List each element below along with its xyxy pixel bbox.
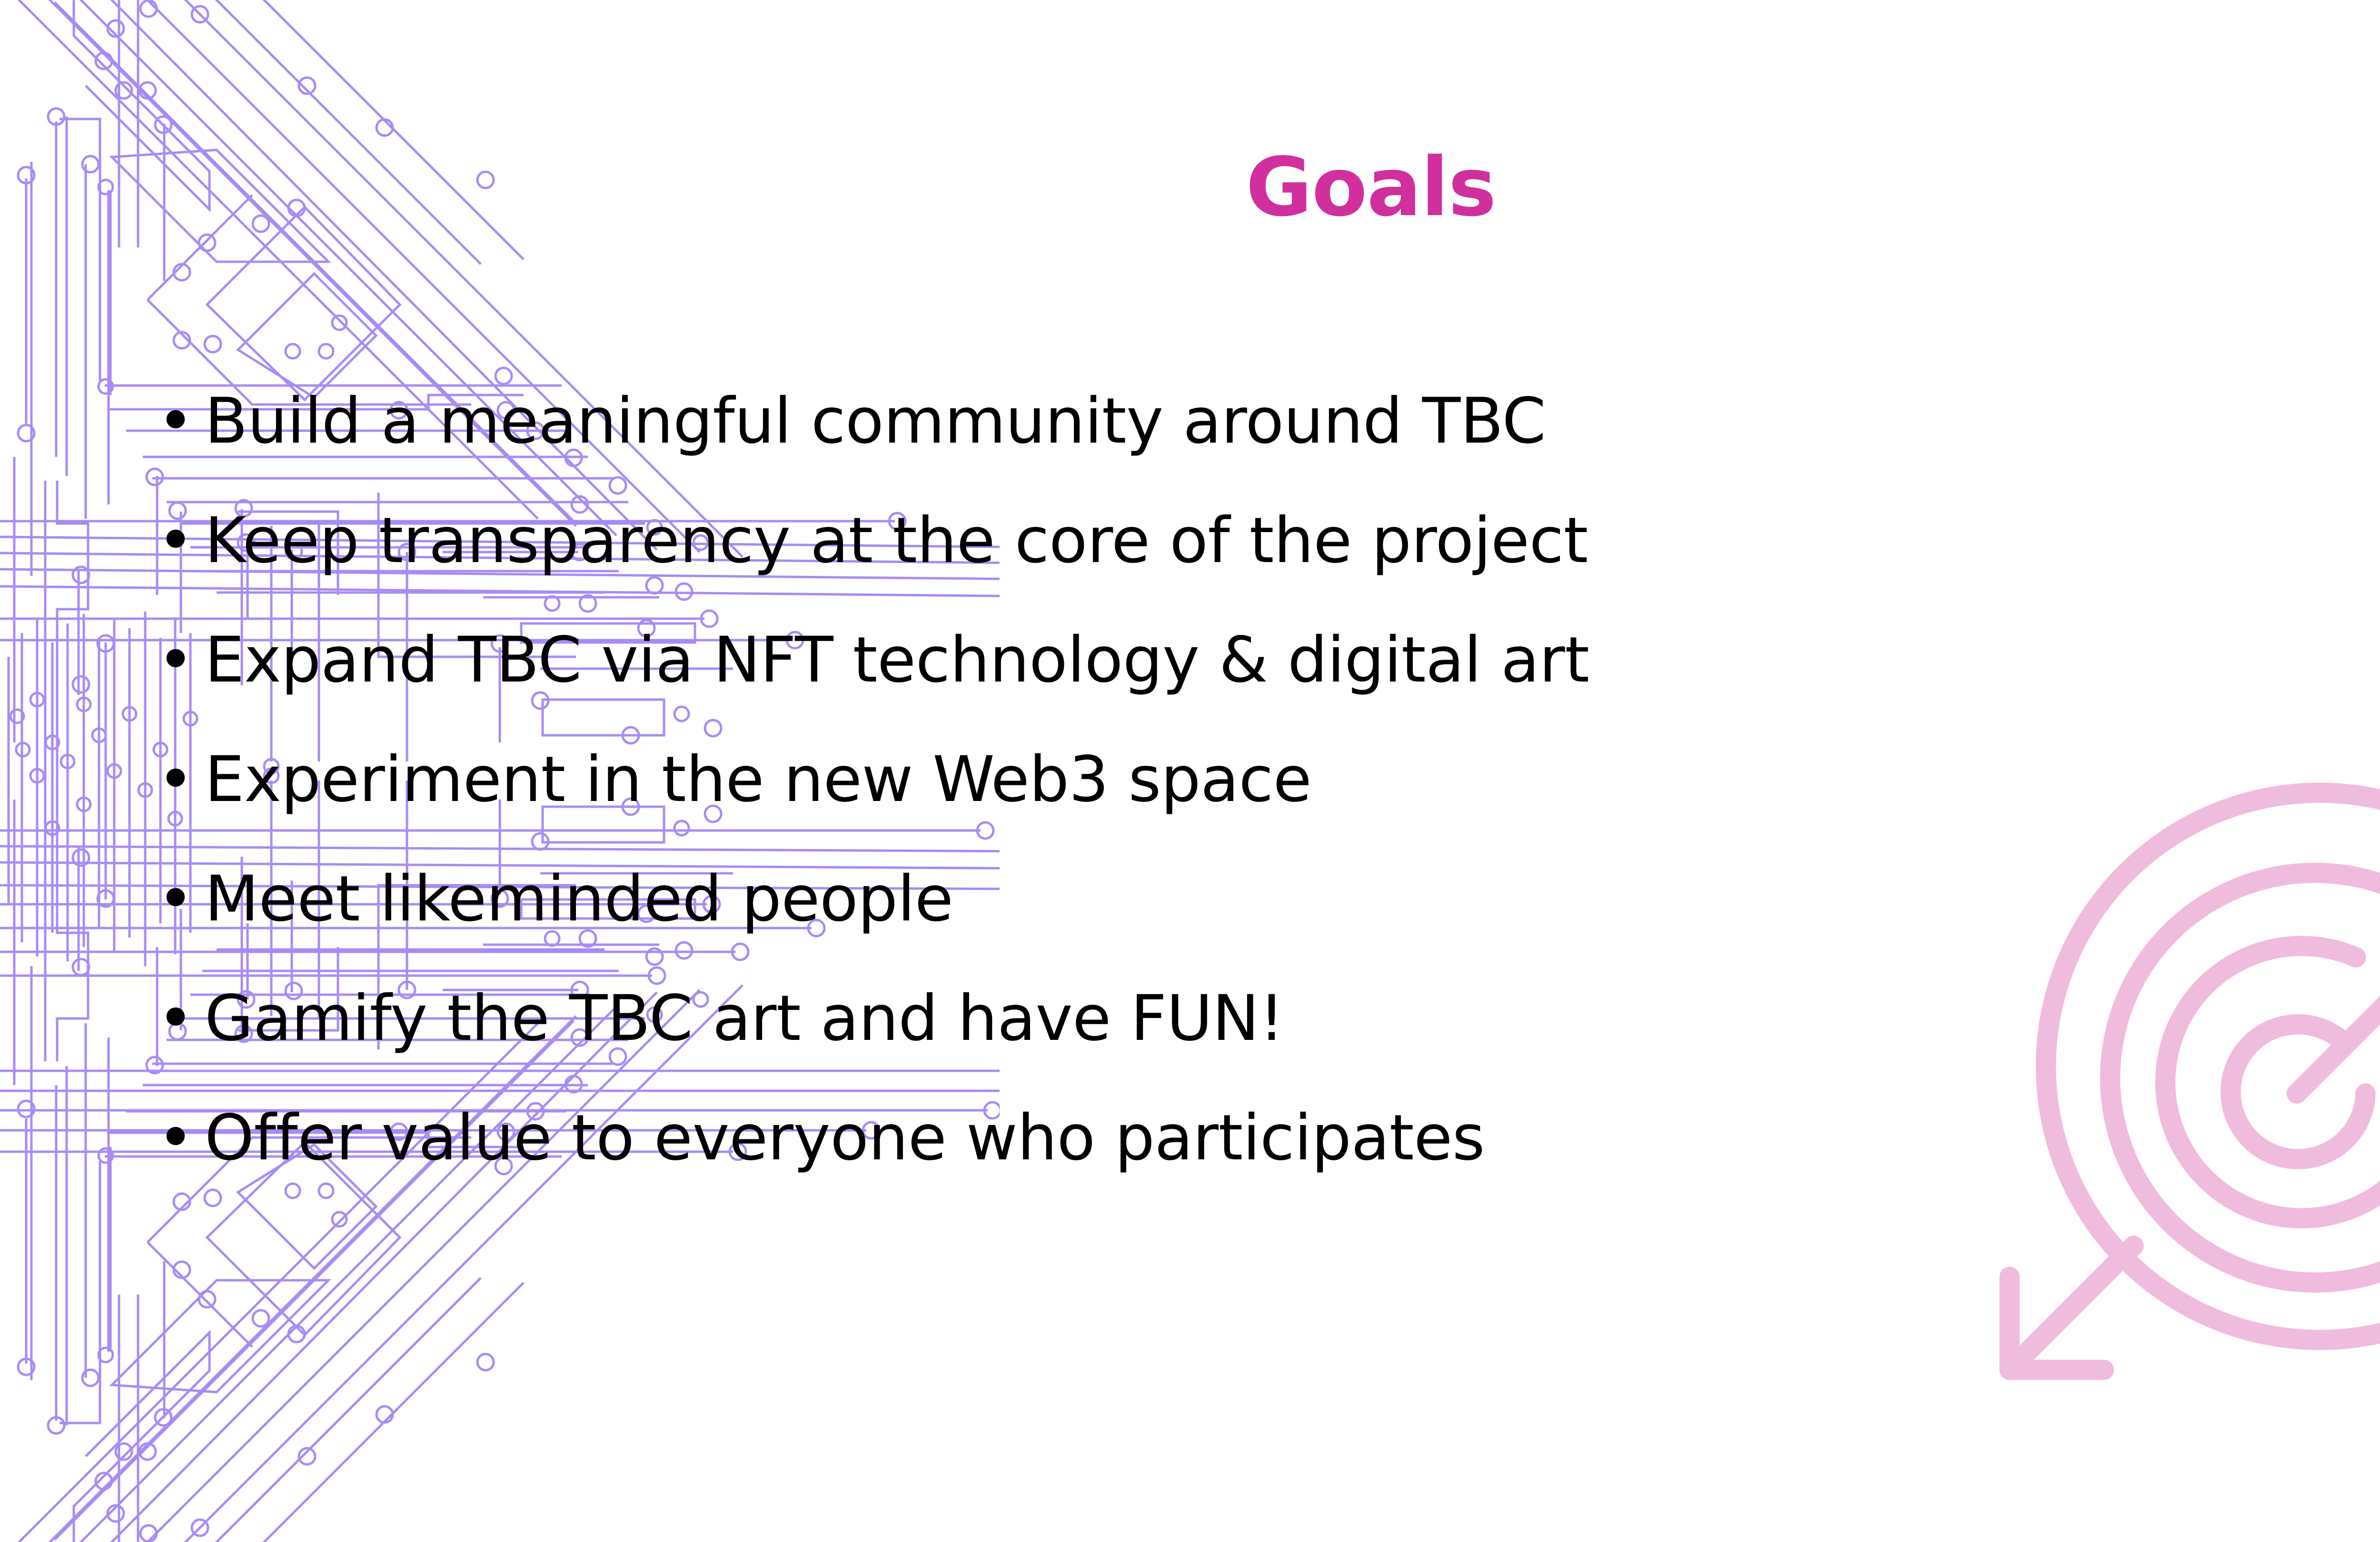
slide-canvas: Goals • Build a meaningful community aro…	[0, 0, 2380, 1542]
list-item-label: Build a meaningful community around TBC	[205, 362, 1546, 481]
bullet-icon: •	[157, 959, 205, 1078]
list-item: • Keep transparency at the core of the p…	[157, 481, 2061, 601]
bullet-icon: •	[157, 1078, 205, 1198]
list-item: • Gamify the TBC art and have FUN!	[157, 959, 2061, 1078]
list-item-label: Keep transparency at the core of the pro…	[205, 481, 1588, 601]
list-item-label: Expand TBC via NFT technology & digital …	[205, 601, 1589, 720]
list-item: • Experiment in the new Web3 space	[157, 720, 2061, 840]
list-item-label: Offer value to everyone who participates	[205, 1078, 1485, 1198]
target-with-arrow-icon	[1952, 738, 2380, 1428]
bullet-icon: •	[157, 362, 205, 481]
bullet-icon: •	[157, 720, 205, 840]
bullet-icon: •	[157, 840, 205, 959]
bullet-icon: •	[157, 481, 205, 601]
list-item-label: Experiment in the new Web3 space	[205, 720, 1311, 840]
list-item-label: Gamify the TBC art and have FUN!	[205, 959, 1284, 1078]
list-item: • Expand TBC via NFT technology & digita…	[157, 601, 2061, 720]
bullet-icon: •	[157, 601, 205, 720]
list-item: • Meet likeminded people	[157, 840, 2061, 959]
goals-bullet-list: • Build a meaningful community around TB…	[157, 362, 2061, 1198]
list-item: • Offer value to everyone who participat…	[157, 1078, 2061, 1198]
arrow-shaft	[2297, 906, 2380, 1094]
list-item: • Build a meaningful community around TB…	[157, 362, 2061, 481]
page-title: Goals	[0, 145, 2380, 230]
target-ring-3	[2165, 946, 2380, 1218]
list-item-label: Meet likeminded people	[205, 840, 953, 959]
arrow-tail	[2010, 1246, 2134, 1370]
